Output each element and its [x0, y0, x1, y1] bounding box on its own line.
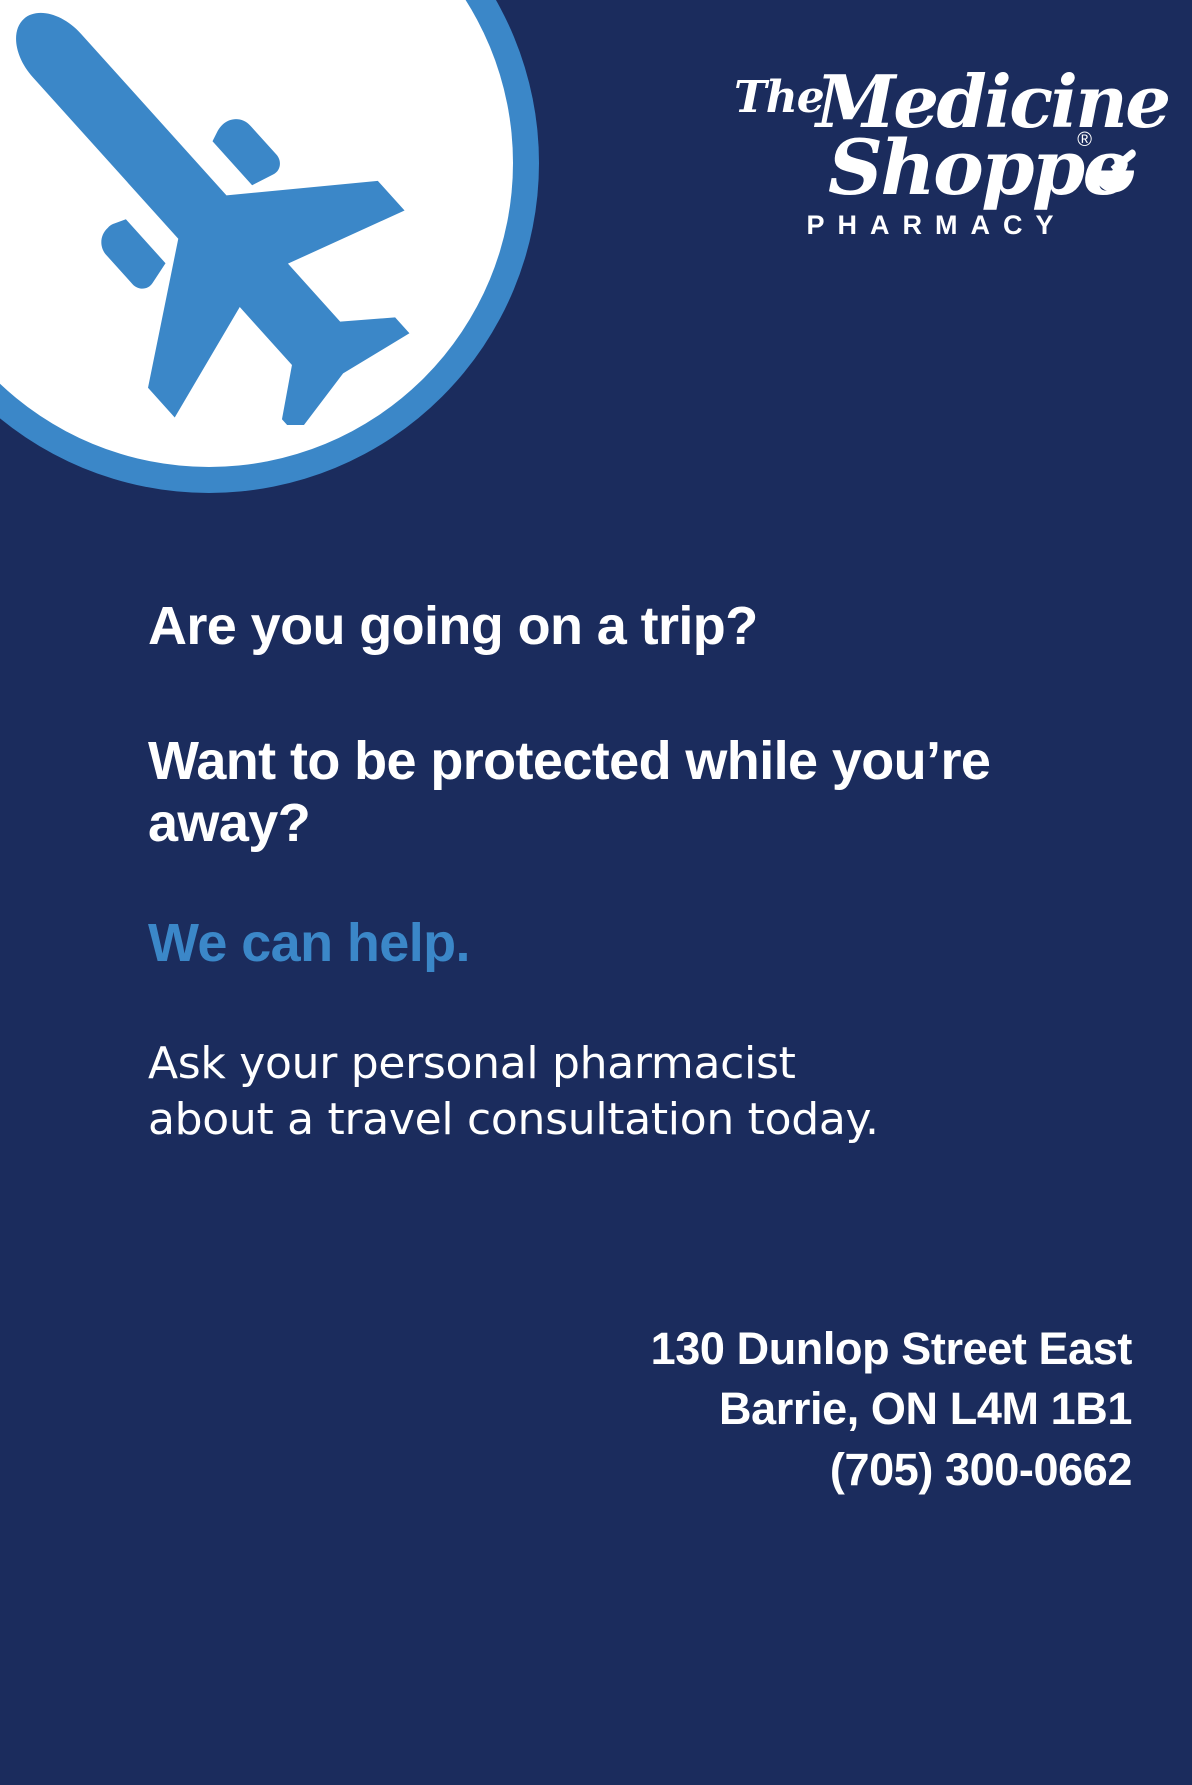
brand-wordmark: The Medicine Shoppe ® [720, 74, 1140, 209]
travel-consultation-poster: The Medicine Shoppe ® PHARMACY Are you g… [0, 0, 1192, 1785]
address-phone[interactable]: (705) 300-0662 [651, 1440, 1132, 1500]
mortar-and-pestle-icon [1088, 146, 1140, 198]
headline-question: Are you going on a trip? [148, 596, 1072, 658]
headline-accent: We can help. [148, 913, 1072, 975]
brand-pharmacy-text: PHARMACY [720, 212, 1140, 239]
address-street: 130 Dunlop Street East [651, 1319, 1132, 1379]
body-text-line-2: about a travel consultation today. [148, 1092, 1072, 1148]
address-city-province-postal: Barrie, ON L4M 1B1 [651, 1379, 1132, 1439]
brand-the-text: The [734, 76, 824, 120]
headline-protection: Want to be protected while you’re away? [148, 730, 1072, 855]
poster-copy: Are you going on a trip? Want to be prot… [148, 596, 1072, 1148]
brand-logo: The Medicine Shoppe ® PHARMACY [720, 74, 1140, 209]
body-text-line-1: Ask your personal pharmacist [148, 1036, 1072, 1092]
airplane-icon [0, 0, 413, 425]
airplane-badge-inner [0, 0, 513, 467]
pharmacy-address-block: 130 Dunlop Street East Barrie, ON L4M 1B… [651, 1319, 1132, 1500]
body-text: Ask your personal pharmacist about a tra… [148, 1036, 1072, 1148]
headline-protection-line-1: Want to be protected [148, 731, 671, 791]
airplane-badge [0, 0, 539, 493]
